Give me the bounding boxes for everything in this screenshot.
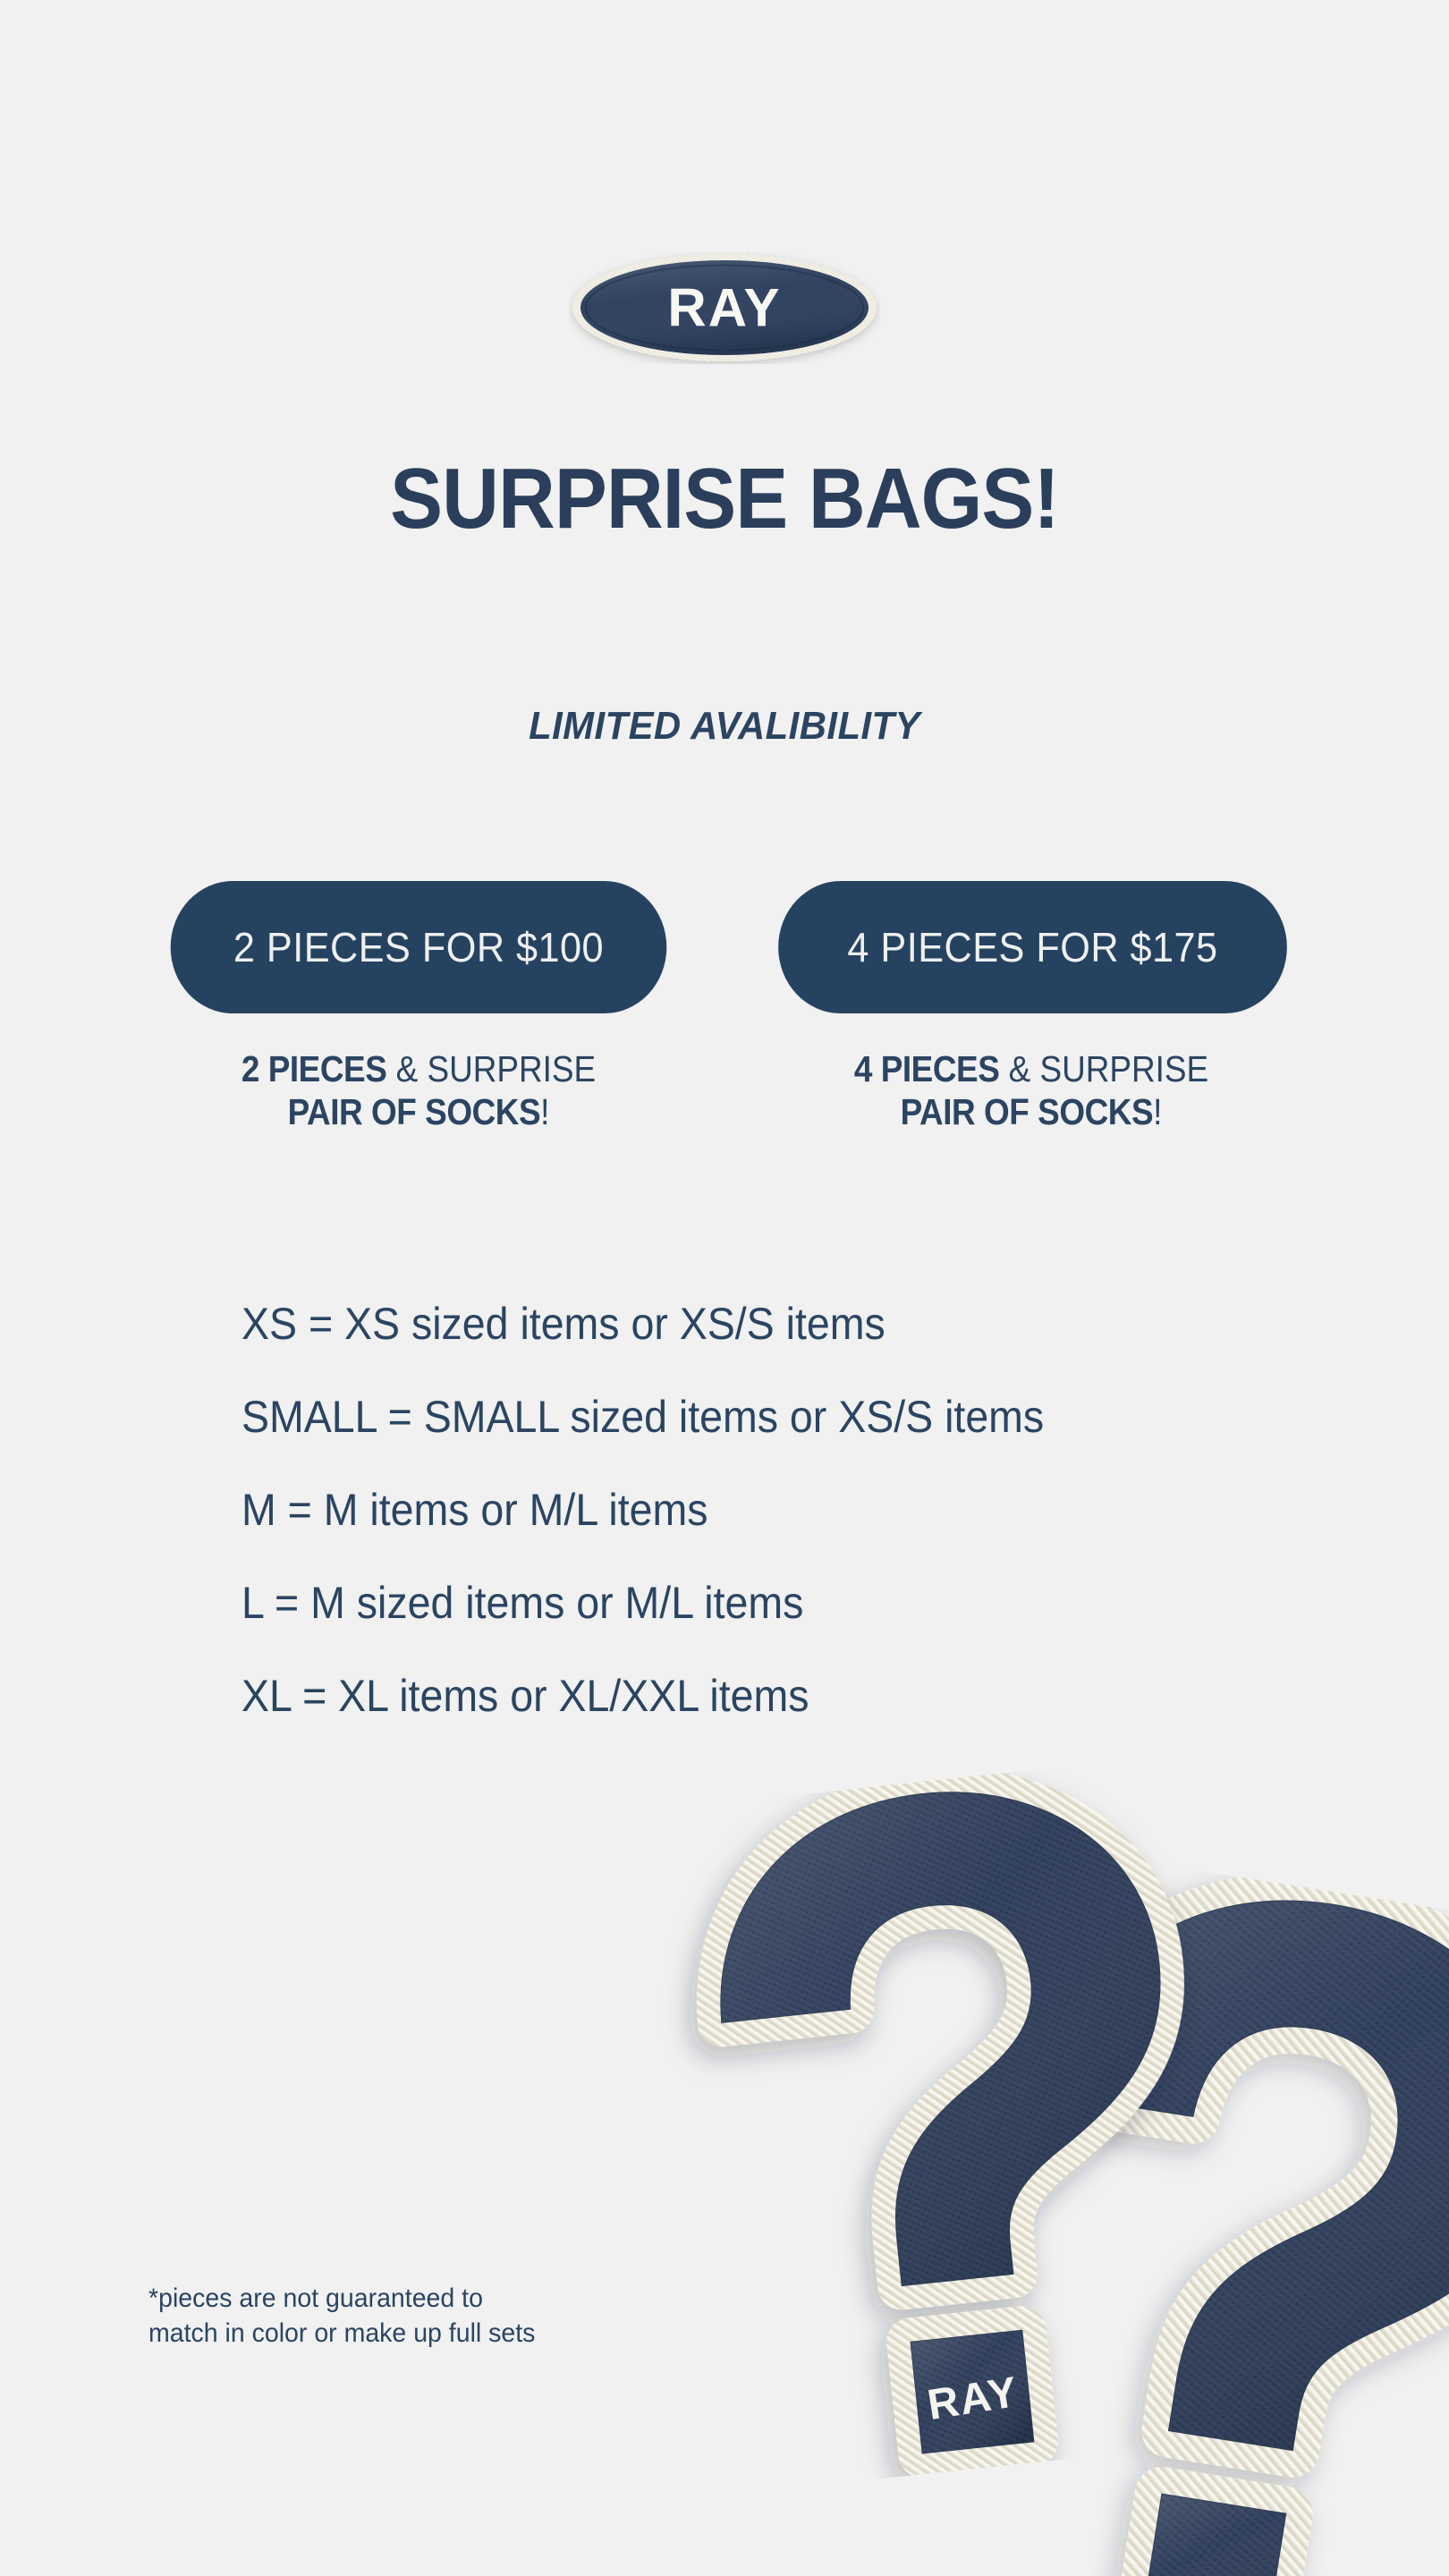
offer-qty-4: 4 PIECES — [853, 1048, 999, 1089]
availability-subtitle: LIMITED AVALIBILITY — [37, 707, 1413, 746]
offer-description-4-pieces: 4 PIECES & SURPRISE PAIR OF SOCKS! — [793, 1047, 1268, 1134]
size-guide-item-xs: XS = XS sized items or XS/S items — [241, 1301, 1199, 1346]
page-title: SURPRISE BAGS! — [58, 456, 1391, 542]
offer-socks-bang-4: ! — [1153, 1091, 1162, 1132]
offer-card-4-pieces: 4 PIECES FOR $175 4 PIECES & SURPRISE PA… — [767, 881, 1295, 1134]
footnote-line-1: *pieces are not guaranteed to — [148, 2281, 535, 2316]
question-mark-patches: RAY — [698, 1771, 1449, 2576]
offer-and-surprise-2: & SURPRISE — [386, 1048, 596, 1089]
footnote-line-2: match in color or make up full sets — [148, 2316, 535, 2351]
offer-qty-2: 2 PIECES — [241, 1048, 386, 1089]
logo-patch-svg: RAY — [569, 252, 880, 364]
size-guide-item-xl: XL = XL items or XL/XXL items — [241, 1674, 1199, 1718]
offer-socks-4: PAIR OF SOCKS — [900, 1091, 1153, 1132]
size-guide-item-m: M = M items or M/L items — [241, 1487, 1199, 1532]
offer-socks-bang-2: ! — [540, 1091, 549, 1132]
offer-card-2-pieces: 2 PIECES FOR $100 2 PIECES & SURPRISE PA… — [155, 881, 682, 1134]
footnote-disclaimer: *pieces are not guaranteed to match in c… — [148, 2281, 535, 2351]
offer-and-surprise-4: & SURPRISE — [999, 1048, 1208, 1089]
logo-text: RAY — [667, 278, 781, 338]
size-guide-list: XS = XS sized items or XS/S items SMALL … — [241, 1301, 1270, 1767]
offer-description-2-pieces: 2 PIECES & SURPRISE PAIR OF SOCKS! — [181, 1047, 656, 1134]
offer-pill-2-pieces[interactable]: 2 PIECES FOR $100 — [170, 881, 666, 1013]
ray-logo-patch: RAY — [569, 252, 880, 364]
question-mark-patch-front: RAY — [637, 1752, 1278, 2497]
offers-row: 2 PIECES FOR $100 2 PIECES & SURPRISE PA… — [0, 881, 1449, 1134]
size-guide-item-l: L = M sized items or M/L items — [241, 1580, 1199, 1625]
size-guide-item-small: SMALL = SMALL sized items or XS/S items — [241, 1394, 1199, 1439]
offer-pill-4-pieces[interactable]: 4 PIECES FOR $175 — [778, 881, 1287, 1013]
offer-socks-2: PAIR OF SOCKS — [287, 1091, 540, 1132]
